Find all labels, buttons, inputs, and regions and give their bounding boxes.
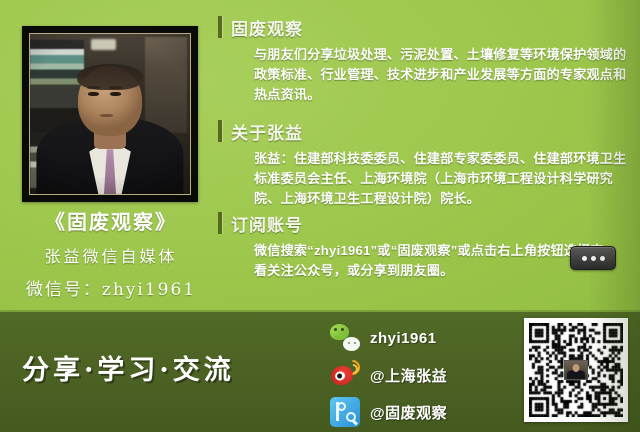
bottom-band: 分享·学习·交流 zhyi1961 @上海张益 @固废观察 bbox=[0, 310, 640, 432]
social-label: @固废观察 bbox=[370, 402, 447, 423]
weibo-icon bbox=[330, 360, 360, 390]
baidu-search-icon bbox=[330, 397, 360, 427]
section-body: 微信搜索“zhyi1961”或“固废观察”或点击右上角按钮选择查看关注公众号，或… bbox=[254, 241, 614, 281]
more-dots-icon[interactable] bbox=[570, 246, 616, 270]
section-body: 张益：住建部科技委委员、住建部专家委委员、住建部环境卫生标准委员会主任、上海环境… bbox=[254, 149, 630, 209]
section-about-author: 关于张益 张益：住建部科技委委员、住建部专家委委员、住建部环境卫生标准委员会主任… bbox=[218, 118, 630, 209]
wechat-icon bbox=[330, 323, 360, 353]
qr-center-portrait bbox=[564, 360, 588, 380]
slogan-text: 分享·学习·交流 bbox=[22, 348, 235, 387]
publication-title: 《固废观察》 bbox=[0, 206, 222, 235]
accent-bar-icon bbox=[218, 212, 222, 234]
accent-bar-icon bbox=[218, 120, 222, 142]
wechat-id-line: 微信号：zhyi1961 bbox=[0, 275, 222, 300]
accent-bar-icon bbox=[218, 16, 222, 38]
section-title: 固废观察 bbox=[231, 15, 303, 40]
section-heading-row: 固废观察 bbox=[218, 14, 630, 40]
section-title: 订阅账号 bbox=[231, 211, 303, 236]
section-title: 关于张益 bbox=[231, 119, 303, 144]
section-subscribe: 订阅账号 微信搜索“zhyi1961”或“固废观察”或点击右上角按钮选择查看关注… bbox=[218, 210, 630, 281]
section-body: 与朋友们分享垃圾处理、污泥处置、土壤修复等环境保护领域的政策标准、行业管理、技术… bbox=[254, 45, 630, 105]
list-item[interactable]: @上海张益 bbox=[330, 357, 500, 393]
portrait-frame bbox=[22, 26, 198, 202]
portrait-photo bbox=[29, 33, 191, 195]
list-item[interactable]: zhyi1961 bbox=[330, 320, 500, 356]
social-list: zhyi1961 @上海张益 @固废观察 bbox=[330, 320, 500, 431]
promo-card: 《固废观察》 张益微信自媒体 微信号：zhyi1961 固废观察 与朋友们分享垃… bbox=[0, 0, 640, 432]
social-label: @上海张益 bbox=[370, 365, 447, 386]
social-label: zhyi1961 bbox=[370, 330, 437, 347]
section-about-column: 固废观察 与朋友们分享垃圾处理、污泥处置、土壤修复等环境保护领域的政策标准、行业… bbox=[218, 14, 630, 105]
qr-code[interactable] bbox=[524, 318, 628, 422]
list-item[interactable]: @固废观察 bbox=[330, 394, 500, 430]
section-heading-row: 关于张益 bbox=[218, 118, 630, 144]
section-heading-row: 订阅账号 bbox=[218, 210, 630, 236]
publication-subtitle: 张益微信自媒体 bbox=[0, 243, 222, 267]
